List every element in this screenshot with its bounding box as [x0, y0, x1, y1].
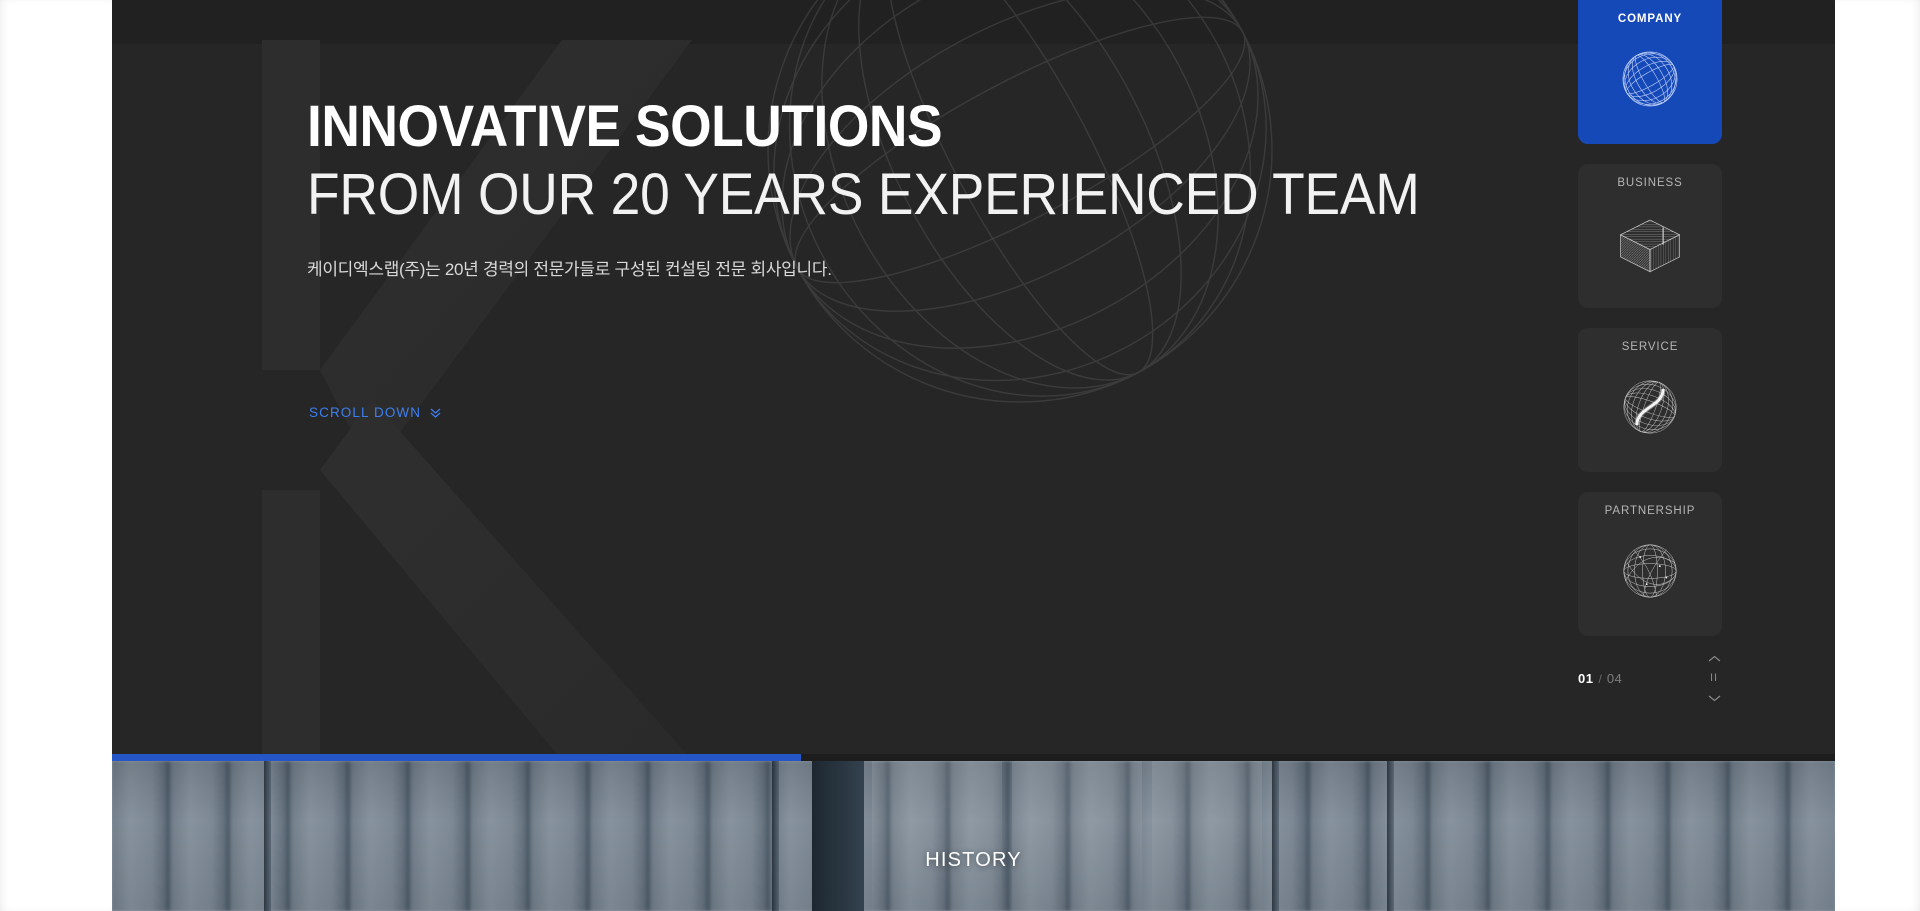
hero-subtitle: 케이디엑스랩(주)는 20년 경력의 전문가들로 구성된 컨설팅 전문 회사입니…	[307, 255, 1407, 280]
slide-control-stack: II	[1706, 653, 1722, 704]
browser-viewport: INNOVATIVE SOLUTIONS FROM OUR 20 YEARS E…	[112, 0, 1835, 911]
pause-icon[interactable]: II	[1706, 673, 1722, 684]
sidebar-item-partnership[interactable]: PARTNERSHIP	[1578, 492, 1722, 636]
page-root: INNOVATIVE SOLUTIONS FROM OUR 20 YEARS E…	[0, 0, 1920, 911]
facade-mullion	[772, 761, 779, 911]
yin-yang-sphere-icon	[1609, 366, 1691, 448]
slide-total: 04	[1607, 671, 1622, 686]
facade-mullion	[1272, 761, 1279, 911]
chevron-up-icon[interactable]	[1706, 653, 1722, 665]
scroll-down-button[interactable]: SCROLL DOWN	[309, 405, 442, 420]
sidebar-item-company[interactable]: COMPANY	[1578, 0, 1722, 144]
facade-glass-pane	[1152, 761, 1262, 911]
sidebar-item-business-label: BUSINESS	[1578, 177, 1722, 189]
facade-glass-pane	[1012, 761, 1142, 911]
hero-slide: INNOVATIVE SOLUTIONS FROM OUR 20 YEARS E…	[112, 0, 1835, 760]
scroll-down-label: SCROLL DOWN	[309, 405, 421, 420]
slide-current: 01	[1578, 671, 1593, 686]
slide-controls: 01 / 04 II	[1578, 648, 1722, 708]
sidebar-item-company-label: COMPANY	[1578, 13, 1722, 25]
sidebar-item-partnership-label: PARTNERSHIP	[1578, 505, 1722, 517]
page-gutter-right	[1835, 0, 1920, 911]
hero-copy: INNOVATIVE SOLUTIONS FROM OUR 20 YEARS E…	[307, 95, 1407, 280]
facade-mullion	[1387, 761, 1394, 911]
chevron-double-down-icon	[429, 406, 442, 419]
wireframe-globe-icon	[1609, 38, 1691, 120]
page-gutter-left	[0, 0, 112, 911]
sidebar-item-service-label: SERVICE	[1578, 341, 1722, 353]
slide-progress-fill	[112, 754, 801, 761]
slide-separator: /	[1598, 672, 1601, 686]
hero-top-band	[112, 0, 1835, 44]
facade-mullion	[812, 761, 864, 911]
sidebar-item-service[interactable]: SERVICE	[1578, 328, 1722, 472]
sidebar-item-business[interactable]: BUSINESS	[1578, 164, 1722, 308]
slide-progress-track[interactable]	[112, 754, 1835, 761]
hero-headline-line2: FROM OUR 20 YEARS EXPERIENCED TEAM	[307, 162, 1319, 229]
section-nav: COMPANY	[1578, 0, 1722, 656]
wireframe-cube-icon	[1609, 202, 1691, 284]
history-label: HISTORY	[112, 849, 1835, 872]
wireframe-network-globe-icon	[1609, 530, 1691, 612]
chevron-down-icon[interactable]	[1706, 692, 1722, 704]
facade-mullion	[264, 761, 271, 911]
hero-headline-line1: INNOVATIVE SOLUTIONS	[307, 95, 1319, 160]
history-section: HISTORY	[112, 761, 1835, 911]
slide-counter: 01 / 04	[1578, 671, 1622, 686]
facade-glass-pane	[872, 761, 1002, 911]
